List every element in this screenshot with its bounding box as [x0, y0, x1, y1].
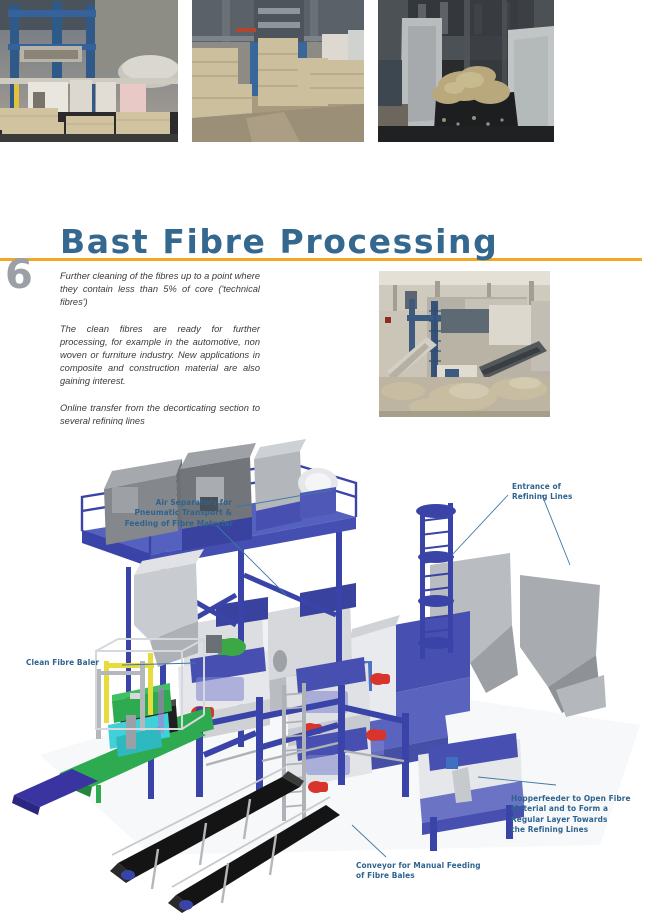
top-photo-strip [0, 0, 650, 142]
callout-clean-fibre-baler: Clean Fibre Baler [26, 657, 121, 667]
page-title: Bast Fibre Processing [60, 222, 498, 261]
callout-hopperfeeder-line3: Regular Layer Towards [511, 814, 646, 824]
page-root: Bast Fibre Processing 6 Further cleaning… [0, 0, 650, 919]
callout-air-separators: Air Separators for Pneumatic Transport &… [72, 497, 232, 528]
page-number: 6 [5, 255, 33, 295]
callout-hopperfeeder-line4: the Refining Lines [511, 824, 646, 834]
callout-entrance-refining-lines: Entrance of Refining Lines [512, 481, 632, 502]
fibre-bales-storage-photo [192, 0, 364, 142]
callout-conveyor-line2: of Fibre Bales [356, 870, 496, 880]
callout-entrance-line1: Entrance of [512, 481, 632, 491]
callout-hopperfeeder-line1: Hopperfeeder to Open Fibre [511, 793, 646, 803]
refining-line-photo [379, 271, 550, 417]
callout-clean-fibre-baler-line1: Clean Fibre Baler [26, 657, 121, 667]
callout-air-separators-line1: Air Separators for [72, 497, 232, 507]
fibre-conveyor-photo [378, 0, 554, 142]
paragraph-1: Further cleaning of the fibres up to a p… [60, 270, 260, 310]
baling-press-hall-photo [0, 0, 178, 142]
callout-hopperfeeder: Hopperfeeder to Open Fibre Material and … [511, 793, 646, 835]
callout-air-separators-line3: Feeding of Fibre Material [72, 518, 232, 528]
callout-conveyor-line1: Conveyor for Manual Feeding [356, 860, 496, 870]
callout-entrance-line2: Refining Lines [512, 491, 632, 501]
callout-conveyor-manual-feeding: Conveyor for Manual Feeding of Fibre Bal… [356, 860, 496, 881]
paragraph-2: The clean fibres are ready for further p… [60, 323, 260, 389]
callout-hopperfeeder-line2: Material and to Form a [511, 803, 646, 813]
callout-air-separators-line2: Pneumatic Transport & [72, 507, 232, 517]
